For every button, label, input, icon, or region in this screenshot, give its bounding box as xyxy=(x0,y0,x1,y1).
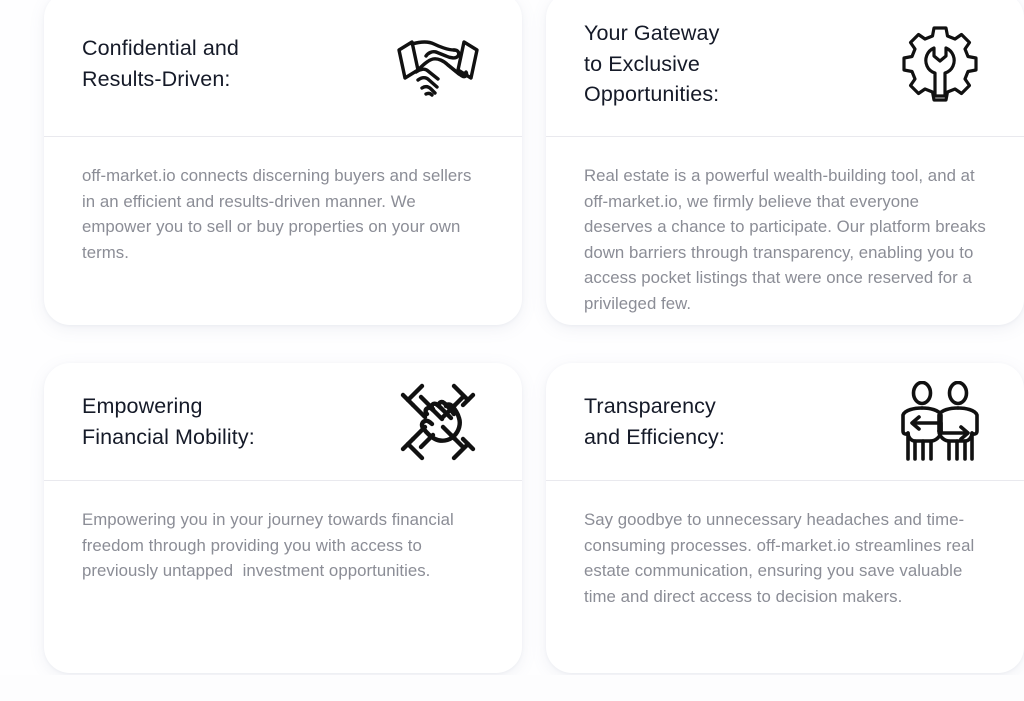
handshake-icon xyxy=(390,18,486,110)
page-bottom-strip xyxy=(0,675,1024,701)
card-header: Confidential and Results-Driven: xyxy=(44,0,522,136)
feature-card-grid: Confidential and Results-Driven: xyxy=(0,0,1024,701)
card-body: Empowering you in your journey towards f… xyxy=(44,481,522,673)
feature-card-empowering-financial-mobility[interactable]: Empowering Financial Mobility: xyxy=(44,363,522,673)
card-title: Confidential and Results-Driven: xyxy=(82,33,362,94)
card-description: Say goodbye to unnecessary headaches and… xyxy=(584,507,990,609)
card-body: Real estate is a powerful wealth-buildin… xyxy=(546,137,1024,325)
gear-wrench-icon xyxy=(892,18,988,110)
card-body: Say goodbye to unnecessary headaches and… xyxy=(546,481,1024,673)
card-header: Transparency and Efficiency: xyxy=(546,363,1024,480)
card-description: Real estate is a powerful wealth-buildin… xyxy=(584,163,990,316)
card-title: Transparency and Efficiency: xyxy=(584,391,864,452)
card-description: Empowering you in your journey towards f… xyxy=(82,507,488,584)
card-title: Empowering Financial Mobility: xyxy=(82,391,362,452)
feature-cards-page: Confidential and Results-Driven: xyxy=(0,0,1024,701)
two-people-exchange-icon xyxy=(892,376,988,468)
card-body: off-market.io connects discerning buyers… xyxy=(44,137,522,325)
card-description: off-market.io connects discerning buyers… xyxy=(82,163,488,265)
card-header: Empowering Financial Mobility: xyxy=(44,363,522,480)
feature-card-your-gateway-to-exclusive-opportunities[interactable]: Your Gateway to Exclusive Opportunities:… xyxy=(546,0,1024,325)
card-title: Your Gateway to Exclusive Opportunities: xyxy=(584,18,864,110)
feature-card-confidential-and-results-driven[interactable]: Confidential and Results-Driven: xyxy=(44,0,522,325)
card-header: Your Gateway to Exclusive Opportunities: xyxy=(546,0,1024,136)
feature-card-transparency-and-efficiency[interactable]: Transparency and Efficiency: xyxy=(546,363,1024,673)
joined-hands-teamwork-icon xyxy=(390,376,486,468)
